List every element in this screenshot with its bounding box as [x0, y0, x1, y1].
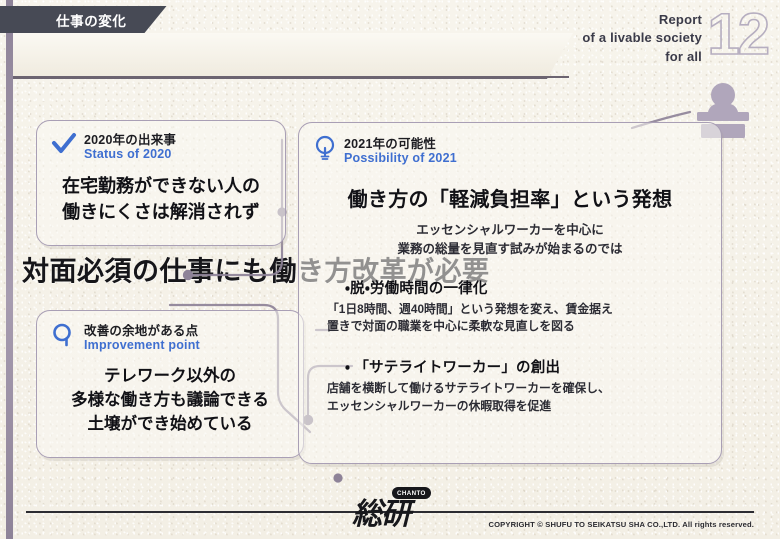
card-possibility-2021[interactable]: 2021年の可能性 Possibility of 2021 働き方の「軽減負担率…	[298, 122, 722, 464]
point-desc-line-2: エッセンシャルワーカーの休暇取得を促進	[327, 398, 721, 416]
brand-logo-badge: CHANTO	[392, 487, 431, 499]
card-improve-body-line-2: 多様な働き方も議論できる	[37, 389, 303, 413]
card-improve-body-line-1: テレワーク以外の	[37, 365, 303, 389]
point-heading: ・脱・労働時間の一律化	[345, 277, 721, 298]
issue-number: 12	[707, 6, 768, 64]
copyright-text: COPYRIGHT © SHUFU TO SEIKATSU SHA CO.,LT…	[488, 520, 754, 529]
card-improvement-point[interactable]: 改善の余地がある点 Improvement point テレワーク以外の 多様な…	[36, 310, 304, 458]
card-improve-header: 改善の余地がある点 Improvement point	[37, 311, 303, 353]
card-improve-title-en: Improvement point	[84, 338, 200, 352]
card-2021-title-en: Possibility of 2021	[344, 151, 457, 165]
title-underline	[13, 76, 569, 78]
card-2021-sub-line-1: エッセンシャルワーカーを中心に	[299, 221, 721, 240]
slide-canvas: 仕事の変化 対面必須の仕事にも働き方改革が必要 Report of a liva…	[0, 0, 780, 539]
card-2020-body-line-2: 働きにくさは解消されず	[37, 200, 285, 226]
card-2020-title-en: Status of 2020	[84, 147, 176, 161]
card-2020-body-line-1: 在宅勤務ができない人の	[37, 174, 285, 200]
point-description: 店舗を横断して働けるサテライトワーカーを確保し、 エッセンシャルワーカーの休暇取…	[327, 380, 721, 415]
card-improve-body-line-3: 土壌ができ始めている	[37, 413, 303, 437]
card-2020-title-ja: 2020年の出来事	[84, 133, 176, 147]
card-2021-title-ja: 2021年の可能性	[344, 137, 457, 151]
card-improve-body: テレワーク以外の 多様な働き方も議論できる 土壌ができ始めている	[37, 365, 303, 437]
card-2021-header: 2021年の可能性 Possibility of 2021	[299, 123, 721, 167]
card-2020-header: 2020年の出来事 Status of 2020	[37, 121, 285, 161]
magnifier-icon	[51, 322, 77, 353]
section-tab-label: 仕事の変化	[56, 10, 127, 30]
card-2021-sub-line-2: 業務の総量を見直す試みが始まるのでは	[299, 240, 721, 259]
point-item: ・ 「サテライトワーカー」の創出 店舗を横断して働けるサテライトワーカーを確保し…	[327, 356, 721, 415]
point-desc-line-1: 「1日8時間、週40時間」という発想を変え、賃金据え	[327, 301, 721, 319]
brand-logo: 総研 CHANTO	[352, 489, 410, 533]
point-heading: ・ 「サテライトワーカー」の創出	[345, 356, 721, 377]
section-tab[interactable]: 仕事の変化	[0, 6, 167, 33]
point-desc-line-2: 置きで対面の職業を中心に柔軟な見直しを図る	[327, 318, 721, 336]
check-icon	[51, 132, 77, 161]
card-2021-subtext: エッセンシャルワーカーを中心に 業務の総量を見直す試みが始まるのでは	[299, 221, 721, 259]
point-desc-line-1: 店舗を横断して働けるサテライトワーカーを確保し、	[327, 380, 721, 398]
brand-line-1: Report	[512, 11, 702, 29]
card-2021-main-title: 働き方の「軽減負担率」という発想	[299, 183, 721, 212]
point-item: ・脱・労働時間の一律化 「1日8時間、週40時間」という発想を変え、賃金据え 置…	[327, 277, 721, 336]
lightbulb-icon	[313, 134, 337, 167]
card-status-2020[interactable]: 2020年の出来事 Status of 2020 在宅勤務ができない人の 働きに…	[36, 120, 286, 246]
title-bar	[13, 33, 573, 79]
point-description: 「1日8時間、週40時間」という発想を変え、賃金据え 置きで対面の職業を中心に柔…	[327, 301, 721, 336]
brand-logo-text: 総研	[352, 497, 410, 532]
card-improve-title-ja: 改善の余地がある点	[84, 324, 200, 338]
card-2020-body: 在宅勤務ができない人の 働きにくさは解消されず	[37, 174, 285, 225]
